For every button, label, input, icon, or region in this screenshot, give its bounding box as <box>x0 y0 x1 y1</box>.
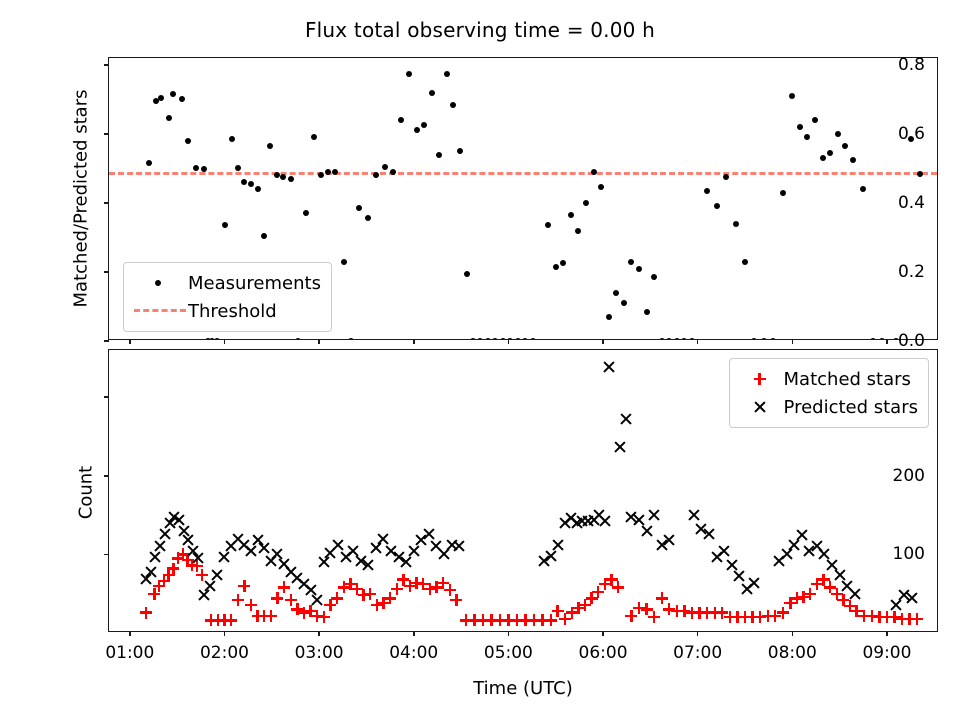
data-point-measurement <box>583 200 589 206</box>
data-point-measurement <box>545 222 551 228</box>
data-point-measurement <box>723 174 729 180</box>
x-tick-mark <box>224 339 226 344</box>
x-tick-mark <box>129 339 131 344</box>
data-point-measurement <box>341 259 347 265</box>
x-tick-label: 02:00 <box>200 643 249 663</box>
y-axis-label-top: Matched/Predicted stars <box>71 49 92 349</box>
data-point-measurement <box>742 259 748 265</box>
y-tick-mark <box>104 475 109 477</box>
data-point-measurement <box>382 164 388 170</box>
data-point-measurement <box>522 338 528 339</box>
x-tick-mark <box>697 339 699 344</box>
data-point-measurement <box>644 309 650 315</box>
legend-item: Threshold <box>132 297 321 325</box>
data-point-measurement <box>146 160 152 166</box>
data-point-measurement <box>390 169 396 175</box>
axes-top-panel: Matched/Predicted stars 0.00.20.40.60.8 … <box>108 57 938 340</box>
data-point-measurement <box>827 150 833 156</box>
data-point-measurement <box>804 134 810 140</box>
legend-label: Predicted stars <box>784 397 918 418</box>
data-point-measurement <box>421 122 427 128</box>
data-point-measurement <box>917 171 923 177</box>
x-axis-label: Time (UTC) <box>108 678 938 699</box>
x-tick-mark <box>318 631 320 636</box>
data-point-measurement <box>158 95 164 101</box>
data-point-measurement <box>222 222 228 228</box>
x-tick-mark <box>318 339 320 344</box>
data-point-measurement <box>560 260 566 266</box>
data-point-measurement <box>365 215 371 221</box>
x-tick-mark <box>508 631 510 636</box>
data-point-measurement <box>636 266 642 272</box>
x-tick-mark <box>602 339 604 344</box>
x-tick-label: 01:00 <box>105 643 154 663</box>
data-point-measurement <box>842 143 848 149</box>
data-point-measurement <box>214 338 220 339</box>
x-tick-label: 07:00 <box>673 643 722 663</box>
x-tick-mark <box>886 339 888 344</box>
data-point-measurement <box>666 338 672 339</box>
y-tick-mark <box>104 340 109 342</box>
data-point-measurement <box>606 314 612 320</box>
data-point-measurement <box>485 338 491 339</box>
data-point-measurement <box>267 143 273 149</box>
legend-label: Measurements <box>188 273 321 294</box>
data-point-measurement <box>248 181 254 187</box>
y-tick-label: 0.0 <box>898 331 925 351</box>
data-point-measurement <box>598 184 604 190</box>
data-point-measurement <box>193 165 199 171</box>
y-tick-label: 0.8 <box>898 55 925 75</box>
data-point-measurement <box>797 124 803 130</box>
data-point-measurement <box>185 138 191 144</box>
y-tick-mark <box>104 64 109 66</box>
data-point-measurement <box>659 338 665 339</box>
legend-item: Matched stars <box>738 365 918 393</box>
data-point-measurement <box>812 117 818 123</box>
x-tick-label: 06:00 <box>579 643 628 663</box>
data-point-measurement <box>288 176 294 182</box>
x-tick-label: 04:00 <box>389 643 438 663</box>
data-point-measurement <box>348 338 354 339</box>
data-point-measurement <box>261 233 267 239</box>
data-point-measurement <box>280 174 286 180</box>
data-point-measurement <box>820 155 826 161</box>
x-tick-mark <box>224 631 226 636</box>
y-tick-label: 200 <box>893 466 925 486</box>
data-point-measurement <box>681 338 687 339</box>
data-point-measurement <box>311 134 317 140</box>
data-point-measurement <box>733 221 739 227</box>
y-tick-mark <box>104 202 109 204</box>
data-point-measurement <box>879 338 885 339</box>
y-tick-label: 0.4 <box>898 193 925 213</box>
data-point-measurement <box>477 338 483 339</box>
data-point-measurement <box>591 169 597 175</box>
data-point-measurement <box>414 127 420 133</box>
data-point-measurement <box>450 102 456 108</box>
data-point-measurement <box>568 212 574 218</box>
y-tick-mark <box>104 133 109 135</box>
data-point-measurement <box>325 169 331 175</box>
data-point-measurement <box>406 71 412 77</box>
x-tick-mark <box>697 631 699 636</box>
x-tick-mark <box>792 339 794 344</box>
data-point-measurement <box>492 338 498 339</box>
data-point-measurement <box>444 71 450 77</box>
x-tick-mark <box>602 631 604 636</box>
y-tick-mark <box>104 396 109 398</box>
x-tick-label: 03:00 <box>295 643 344 663</box>
x-tick-mark <box>508 339 510 344</box>
data-point-measurement <box>850 157 856 163</box>
data-point-measurement <box>651 274 657 280</box>
data-point-measurement <box>674 338 680 339</box>
data-point-measurement <box>373 172 379 178</box>
data-point-measurement <box>457 148 463 154</box>
data-point-measurement <box>179 96 185 102</box>
page-title: Flux total observing time = 0.00 h <box>0 18 960 42</box>
x-tick-mark <box>792 631 794 636</box>
data-point-measurement <box>170 91 176 97</box>
data-point-measurement <box>166 115 172 121</box>
data-point-measurement <box>303 210 309 216</box>
axes-bottom-panel: Count 100200300 01:0002:0003:0004:0005:0… <box>108 349 938 632</box>
legend-bottom-panel: Matched stars Predicted stars <box>729 358 929 428</box>
y-tick-label: 0.2 <box>898 262 925 282</box>
threshold-line <box>109 172 937 175</box>
x-tick-label: 05:00 <box>484 643 533 663</box>
data-point-measurement <box>689 338 695 339</box>
data-point-measurement <box>241 179 247 185</box>
data-point-measurement <box>835 131 841 137</box>
data-point-measurement <box>530 338 536 339</box>
data-point-measurement <box>714 203 720 209</box>
data-point-measurement <box>621 300 627 306</box>
measurements-marker-icon <box>132 273 188 293</box>
legend-top-panel: Measurements Threshold <box>123 262 332 332</box>
data-point-measurement <box>436 152 442 158</box>
legend-label: Matched stars <box>784 369 911 390</box>
x-tick-label: 08:00 <box>768 643 817 663</box>
data-point-measurement <box>613 290 619 296</box>
x-tick-label: 09:00 <box>862 643 911 663</box>
data-point-measurement <box>398 117 404 123</box>
data-point-measurement <box>870 338 876 339</box>
x-tick-mark <box>886 631 888 636</box>
data-point-measurement <box>780 190 786 196</box>
data-point-measurement <box>470 338 476 339</box>
y-tick-mark <box>104 554 109 556</box>
data-point-measurement <box>274 172 280 178</box>
legend-item: Predicted stars <box>738 393 918 421</box>
data-point-measurement <box>229 136 235 142</box>
data-point-measurement <box>500 338 506 339</box>
data-point-measurement <box>789 93 795 99</box>
data-point-measurement <box>575 228 581 234</box>
x-tick-mark <box>413 631 415 636</box>
y-tick-mark <box>104 271 109 273</box>
figure-root: Flux total observing time = 0.00 h Match… <box>0 0 960 720</box>
data-point-measurement <box>356 205 362 211</box>
data-point-measurement <box>553 264 559 270</box>
matched-stars-marker-icon <box>738 369 784 389</box>
x-tick-mark <box>129 631 131 636</box>
y-tick-label: 100 <box>893 544 925 564</box>
data-point-measurement <box>751 338 757 339</box>
y-tick-label: 0.6 <box>898 124 925 144</box>
data-point-measurement <box>464 271 470 277</box>
data-point-measurement <box>429 90 435 96</box>
legend-label: Threshold <box>188 301 277 322</box>
data-point-measurement <box>761 338 767 339</box>
data-point-measurement <box>770 338 776 339</box>
data-point-measurement <box>318 172 324 178</box>
data-point-measurement <box>704 188 710 194</box>
predicted-stars-marker-icon <box>738 397 784 417</box>
data-point-measurement <box>628 259 634 265</box>
data-point-measurement <box>860 186 866 192</box>
y-axis-label-bottom: Count <box>76 403 97 583</box>
data-point-measurement <box>295 338 301 339</box>
x-tick-mark <box>413 339 415 344</box>
data-point-measurement <box>235 165 241 171</box>
data-point-measurement <box>515 338 521 339</box>
threshold-marker-icon <box>132 301 188 321</box>
legend-item: Measurements <box>132 269 321 297</box>
data-point-measurement <box>255 186 261 192</box>
